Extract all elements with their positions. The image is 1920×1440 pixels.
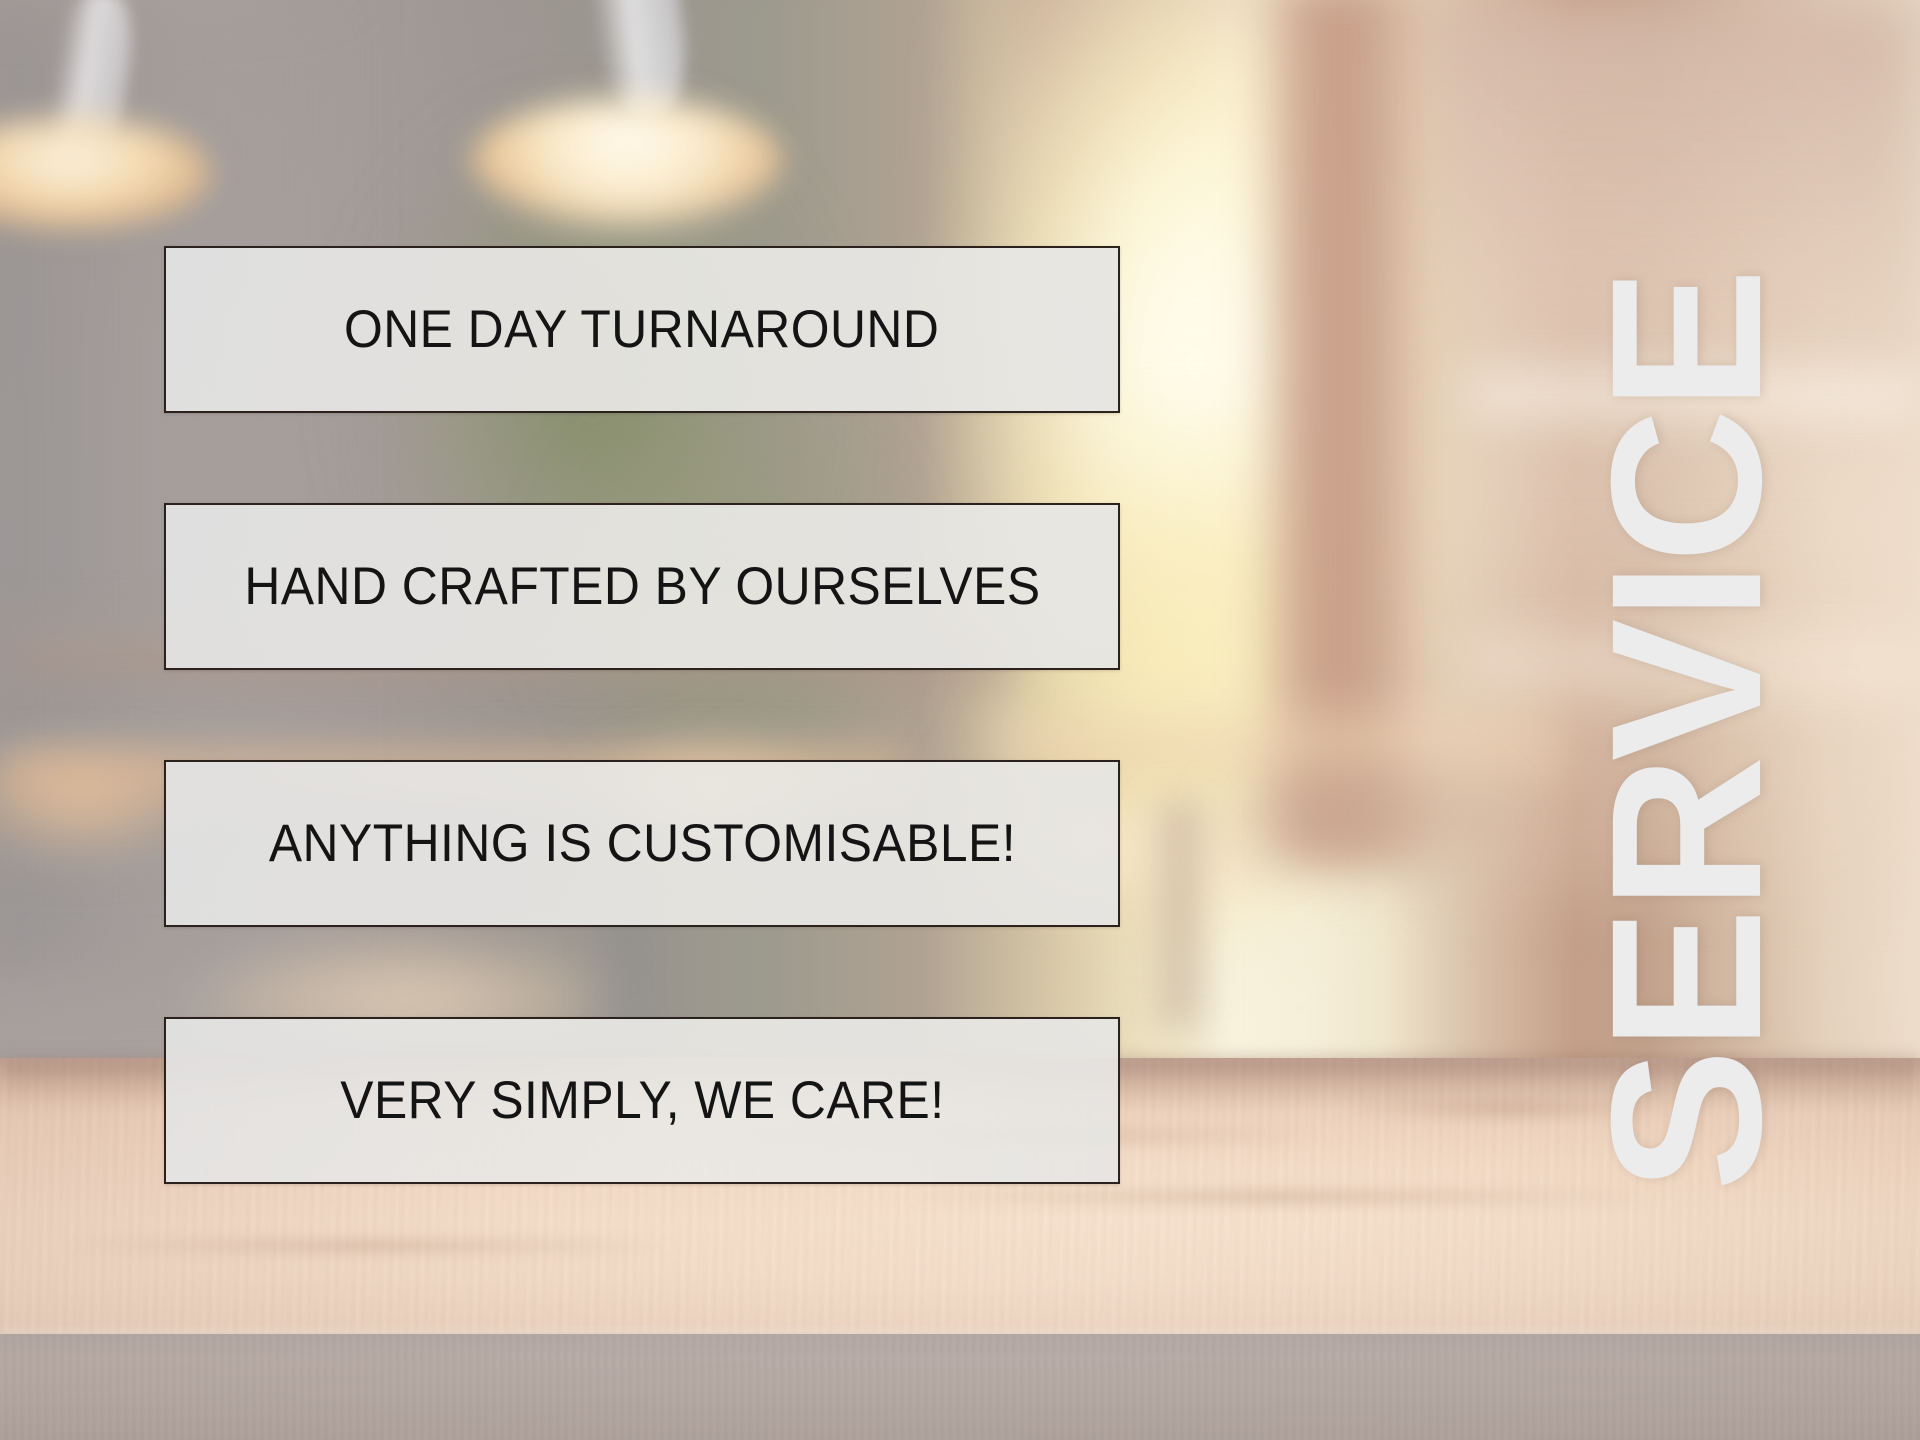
background-stool-e — [1220, 760, 1500, 880]
background-post-right — [1150, 800, 1210, 1030]
poster-canvas: SERVICE ONE DAY TURNAROUND HAND CRAFTED … — [0, 0, 1920, 1440]
table-grain-streak-3 — [60, 1240, 680, 1252]
feature-box-one-day-turnaround[interactable]: ONE DAY TURNAROUND — [164, 246, 1120, 413]
feature-box-we-care[interactable]: VERY SIMPLY, WE CARE! — [164, 1017, 1120, 1184]
feature-label: VERY SIMPLY, WE CARE! — [340, 1074, 944, 1127]
feature-label: ONE DAY TURNAROUND — [344, 303, 939, 356]
feature-box-customisable[interactable]: ANYTHING IS CUSTOMISABLE! — [164, 760, 1120, 927]
feature-label: ANYTHING IS CUSTOMISABLE! — [268, 817, 1015, 870]
background-shelf-lower — [1470, 620, 1920, 710]
feature-box-hand-crafted[interactable]: HAND CRAFTED BY OURSELVES — [164, 503, 1120, 670]
feature-label: HAND CRAFTED BY OURSELVES — [244, 560, 1040, 613]
pendant-lamp-glow-center — [500, 110, 760, 240]
table-front-edge-grain — [0, 1334, 1920, 1440]
background-shelf-upper — [1470, 360, 1920, 430]
table-grain-streak-2 — [900, 1190, 1660, 1204]
feature-box-list: ONE DAY TURNAROUND HAND CRAFTED BY OURSE… — [164, 246, 1120, 1184]
